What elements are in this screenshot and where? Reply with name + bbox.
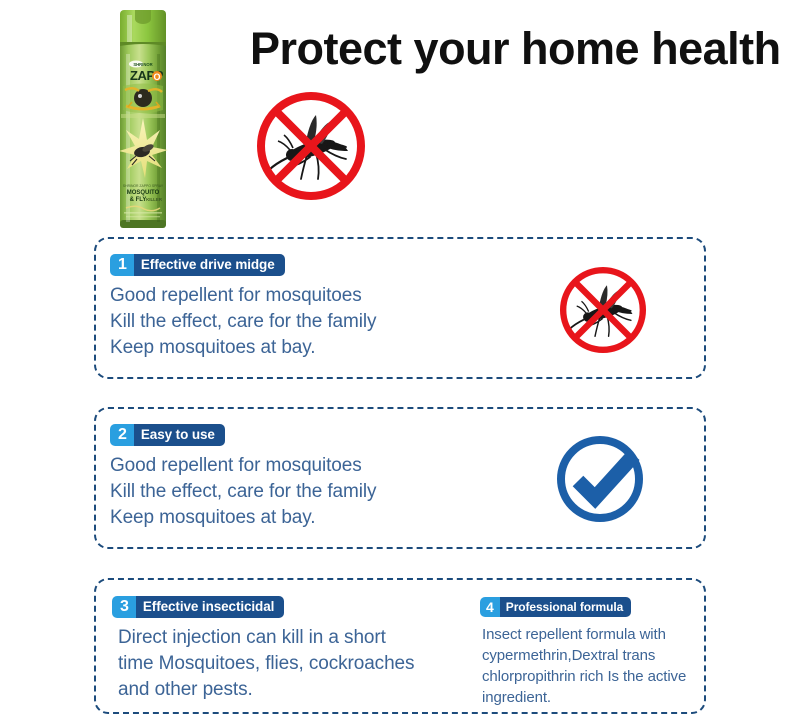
badge-3: 3 Effective insecticidal (112, 596, 284, 618)
feature-body-1: Good repellent for mosquitoes Kill the e… (110, 283, 376, 361)
badge-label: Effective drive midge (134, 254, 285, 276)
svg-text:SHRINOR: SHRINOR (133, 62, 152, 67)
svg-text:KILLER: KILLER (146, 197, 163, 202)
feature-body-2: Good repellent for mosquitoes Kill the e… (110, 453, 376, 531)
badge-label: Professional formula (500, 597, 631, 617)
feature-panel-3: 3 Effective insecticidal Direct injectio… (94, 578, 706, 714)
badge-number: 4 (480, 597, 500, 617)
no-mosquito-icon (556, 263, 650, 357)
can-script-band (123, 84, 163, 114)
svg-text:O: O (153, 72, 160, 82)
no-mosquito-icon (252, 87, 370, 205)
feature-panel-2: 2 Easy to use Good repellent for mosquit… (94, 407, 706, 549)
can-cap-group (120, 10, 166, 46)
badge-4: 4 Professional formula (480, 597, 631, 617)
prohibition-sign (261, 96, 361, 196)
badge-number: 1 (110, 254, 134, 276)
feature-panel-1: 1 Effective drive midge Good repellent f… (94, 237, 706, 379)
badge-2: 2 Easy to use (110, 424, 225, 446)
feature-body-3: Direct injection can kill in a short tim… (118, 625, 414, 703)
svg-text:MOSQUITO: MOSQUITO (127, 190, 160, 196)
feature-body-4: Insect repellent formula with cypermethr… (482, 624, 686, 708)
badge-label: Easy to use (134, 424, 225, 446)
prohibition-sign (563, 270, 643, 350)
svg-text:& FLY: & FLY (130, 197, 147, 203)
page-title: Protect your home health (250, 25, 750, 72)
check-circle-icon (552, 429, 652, 529)
badge-number: 3 (112, 596, 136, 618)
product-aerosol-can: SHRINOR ZAPP O SHRINOR ZAPPO SPRAY MO (110, 6, 176, 234)
badge-1: 1 Effective drive midge (110, 254, 285, 276)
badge-label: Effective insecticidal (136, 596, 284, 618)
svg-text:SHRINOR ZAPPO SPRAY: SHRINOR ZAPPO SPRAY (123, 184, 164, 188)
badge-number: 2 (110, 424, 134, 446)
